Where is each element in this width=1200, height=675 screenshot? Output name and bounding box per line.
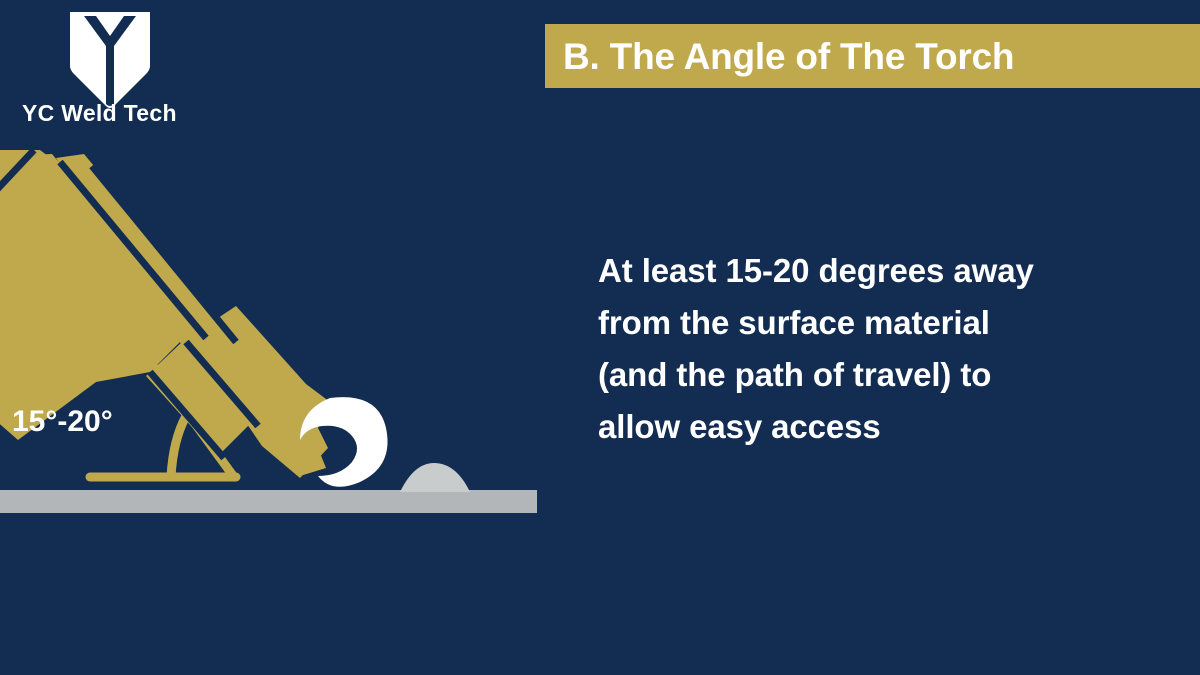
torch-angle-illustration [0, 110, 600, 540]
shield-y-logo-icon [66, 8, 154, 110]
page-title: B. The Angle of The Torch [563, 38, 1014, 75]
body-line: At least 15-20 degrees away [598, 245, 1158, 297]
slide-canvas: YC Weld Tech B. The Angle of The Torch A… [0, 0, 1200, 675]
body-line: from the surface material [598, 297, 1158, 349]
body-line: allow easy access [598, 401, 1158, 453]
angle-value-label: 15°-20° [12, 405, 113, 439]
weld-bead-icon [400, 463, 470, 492]
body-line: (and the path of travel) to [598, 349, 1158, 401]
title-banner: B. The Angle of The Torch [545, 24, 1200, 88]
body-paragraph: At least 15-20 degrees away from the sur… [598, 245, 1158, 454]
workpiece-plate-icon [0, 490, 537, 513]
